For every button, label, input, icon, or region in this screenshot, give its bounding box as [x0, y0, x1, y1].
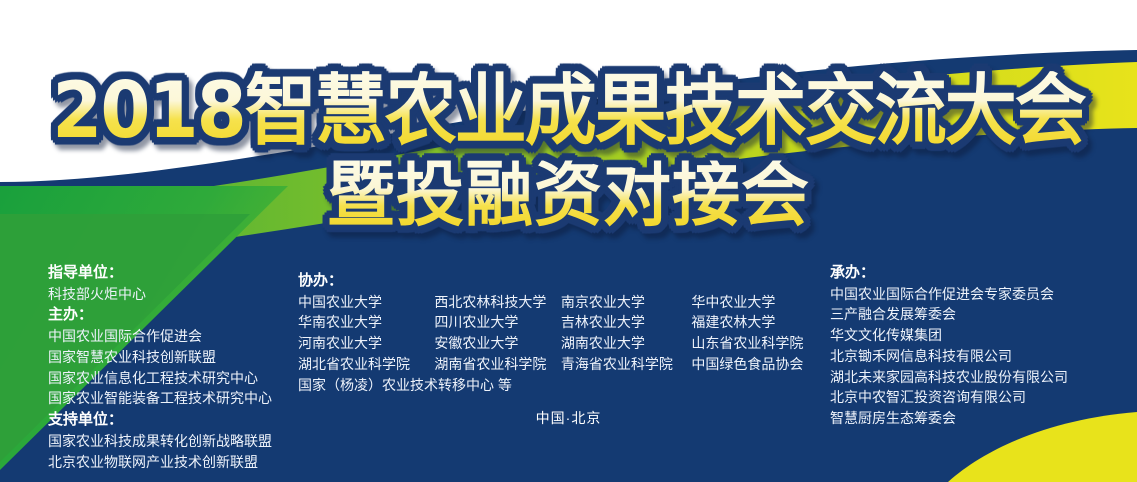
undertaker-item: 湖北未来家园高科技农业股份有限公司 [830, 367, 1130, 388]
support-item: 国家农业科技成果转化创新战略联盟 [48, 431, 348, 452]
coorganizer-row: 河南农业大学 安徽农业大学 湖南农业大学 山东省农业科学院 [298, 333, 818, 354]
poster-banner: 2018智慧农业成果技术交流大会 暨投融资对接会 指导单位： 科技部火炬中心 主… [0, 0, 1137, 482]
coorganizer-item: 河南农业大学 [298, 333, 434, 354]
coorganizer-item: 华中农业大学 [691, 292, 818, 313]
coorganizer-item: 福建农林大学 [691, 312, 818, 333]
undertaker-item: 北京中农智汇投资咨询有限公司 [830, 387, 1130, 408]
undertaker-column: 承办： 中国农业国际合作促进会专家委员会 三产融合发展筹委会 华文文化传媒集团 … [830, 262, 1130, 429]
coorganizer-item: 南京农业大学 [561, 292, 691, 313]
coorganizer-item: 西北农林科技大学 [434, 292, 561, 313]
undertaker-heading: 承办： [830, 262, 1130, 284]
coorganizer-item: 湖南省农业科学院 [434, 354, 561, 375]
coorganizer-item: 中国农业大学 [298, 292, 434, 313]
coorganizer-row: 华南农业大学 四川农业大学 吉林农业大学 福建农林大学 [298, 312, 818, 333]
coorganizer-item: 中国绿色食品协会 [691, 354, 818, 375]
coorganizer-column: 协办： 中国农业大学 西北农林科技大学 南京农业大学 华中农业大学 华南农业大学… [298, 270, 818, 395]
undertaker-item: 华文文化传媒集团 [830, 325, 1130, 346]
coorganizer-item: 华南农业大学 [298, 312, 434, 333]
coorganizer-row: 中国农业大学 西北农林科技大学 南京农业大学 华中农业大学 [298, 292, 818, 313]
coorganizer-heading: 协办： [298, 270, 818, 292]
coorganizer-item: 安徽农业大学 [434, 333, 561, 354]
coorganizer-item: 山东省农业科学院 [691, 333, 818, 354]
undertaker-item: 中国农业国际合作促进会专家委员会 [830, 284, 1130, 305]
undertaker-item: 北京锄禾网信息科技有限公司 [830, 346, 1130, 367]
coorganizer-item-last: 国家（杨凌）农业技术转移中心 等 [298, 375, 512, 396]
coorganizer-item: 湖北省农业科学院 [298, 354, 434, 375]
coorganizer-item: 四川农业大学 [434, 312, 561, 333]
support-item: 北京农业物联网产业技术创新联盟 [48, 452, 348, 473]
undertaker-item: 三产融合发展筹委会 [830, 304, 1130, 325]
event-location: 中国·北京 [0, 408, 1137, 428]
coorganizer-row: 湖北省农业科学院 湖南省农业科学院 青海省农业科学院 中国绿色食品协会 [298, 354, 818, 375]
coorganizer-row-last: 国家（杨凌）农业技术转移中心 等 [298, 375, 818, 396]
coorganizer-item: 青海省农业科学院 [561, 354, 691, 375]
coorganizer-item: 吉林农业大学 [561, 312, 691, 333]
coorganizer-item: 湖南农业大学 [561, 333, 691, 354]
